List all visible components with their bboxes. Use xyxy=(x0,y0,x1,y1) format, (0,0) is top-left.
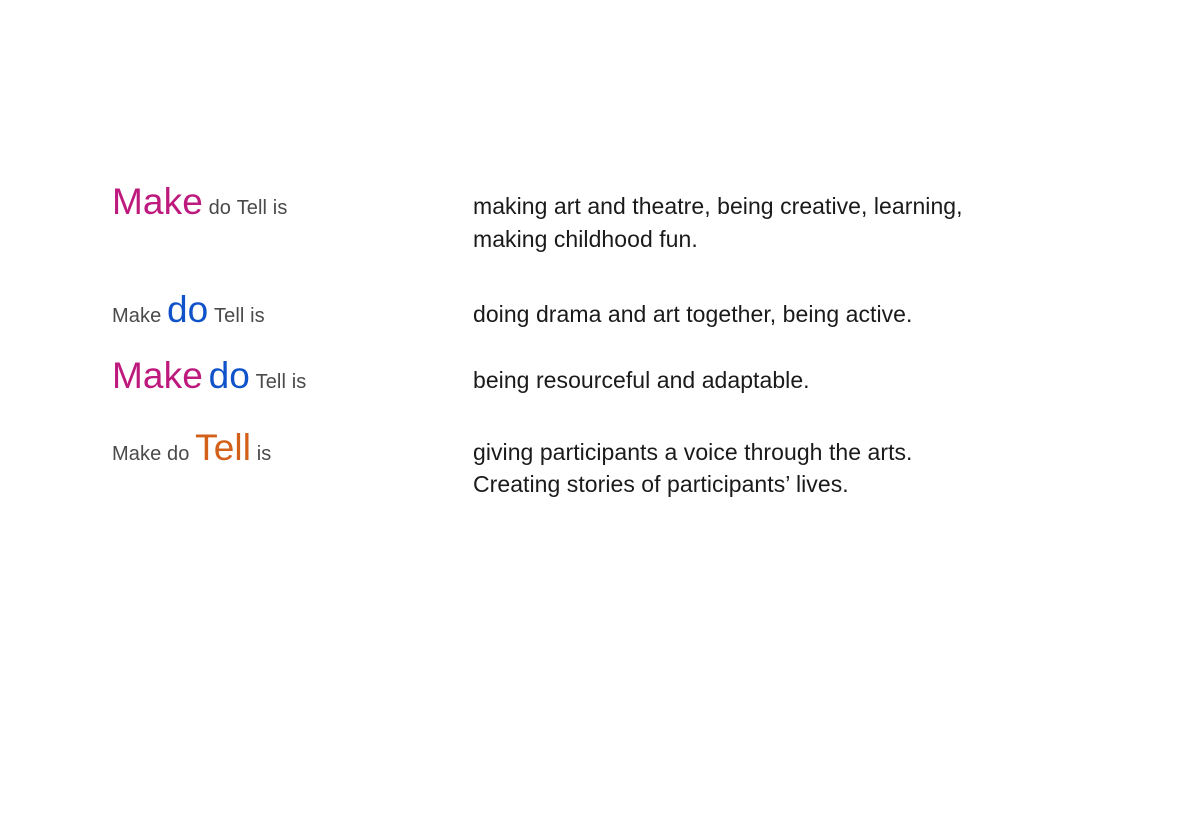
definition-row: Make do Tell is making art and theatre, … xyxy=(112,183,1112,255)
word-make: Make xyxy=(112,443,161,465)
definition-description: doing drama and art together, being acti… xyxy=(473,298,1112,331)
definition-row: Make do Tell is giving participants a vo… xyxy=(112,429,1112,501)
word-is: is xyxy=(250,305,265,327)
word-tell: Tell xyxy=(237,197,267,219)
definition-description: making art and theatre, being creative, … xyxy=(473,190,1112,255)
definition-description: giving participants a voice through the … xyxy=(473,436,1112,501)
word-do: do xyxy=(167,443,189,465)
word-make: Make xyxy=(112,305,161,327)
word-make: Make xyxy=(112,355,203,396)
phrase-make-do-tell-is: Make do Tell is xyxy=(112,357,473,394)
word-do: do xyxy=(209,355,250,396)
word-tell: Tell xyxy=(256,371,286,393)
word-tell: Tell xyxy=(195,427,251,468)
word-make: Make xyxy=(112,181,203,222)
definition-description: being resourceful and adaptable. xyxy=(473,364,1112,397)
phrase-make-do-tell-is: Make do Tell is xyxy=(112,183,473,220)
word-is: is xyxy=(257,443,272,465)
definition-row: Make do Tell is being resourceful and ad… xyxy=(112,357,1112,397)
word-do: do xyxy=(167,289,208,330)
phrase-make-do-tell-is: Make do Tell is xyxy=(112,291,473,328)
definition-row: Make do Tell is doing drama and art toge… xyxy=(112,291,1112,331)
word-tell: Tell xyxy=(214,305,244,327)
word-is: is xyxy=(273,197,288,219)
phrase-make-do-tell-is: Make do Tell is xyxy=(112,429,473,466)
slide-canvas: Make do Tell is making art and theatre, … xyxy=(0,0,1190,838)
definition-list: Make do Tell is making art and theatre, … xyxy=(112,183,1112,501)
word-is: is xyxy=(292,371,307,393)
word-do: do xyxy=(209,197,231,219)
